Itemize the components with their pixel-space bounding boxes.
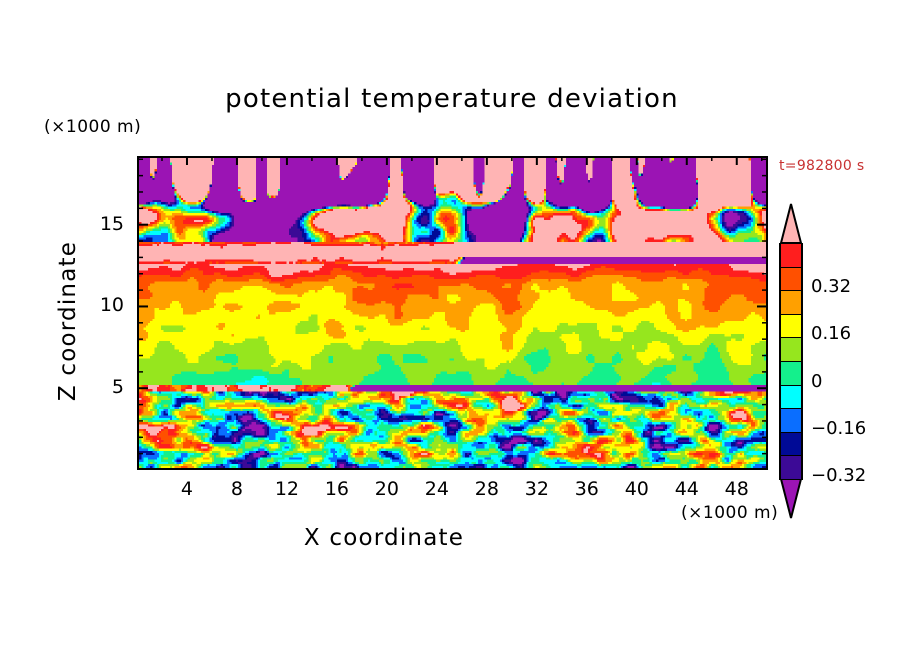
colorbar-band bbox=[779, 267, 803, 292]
x-axis-title: X coordinate bbox=[0, 525, 768, 551]
colorbar-band bbox=[779, 385, 803, 410]
colorbar-tick-label: −0.32 bbox=[811, 465, 866, 486]
y-axis-unit-label: (×1000 m) bbox=[44, 117, 141, 137]
colorbar-tick-label: 0.32 bbox=[811, 276, 851, 297]
contour-plot-area bbox=[137, 156, 768, 470]
colorbar-band bbox=[779, 290, 803, 315]
colorbar-band bbox=[779, 455, 803, 480]
colorbar-tick-label: −0.16 bbox=[811, 418, 866, 439]
axis-ticks bbox=[137, 156, 768, 470]
colorbar-band bbox=[779, 314, 803, 339]
figure-canvas: potential temperature deviation (×1000 m… bbox=[0, 0, 904, 654]
colorbar-band bbox=[779, 361, 803, 386]
colorbar-under-arrow bbox=[779, 479, 803, 519]
colorbar-over-arrow bbox=[779, 203, 803, 243]
y-tick-label: 15 bbox=[84, 213, 124, 235]
y-tick-label: 10 bbox=[84, 294, 124, 316]
colorbar-band bbox=[779, 243, 803, 268]
time-annotation: t=982800 s bbox=[779, 158, 864, 174]
page-title: potential temperature deviation bbox=[0, 84, 904, 114]
colorbar-band bbox=[779, 337, 803, 362]
x-axis-unit-label: (×1000 m) bbox=[681, 503, 778, 523]
colorbar-band bbox=[779, 408, 803, 433]
colorbar-tick-label: 0.16 bbox=[811, 323, 851, 344]
x-tick-label: 48 bbox=[707, 478, 767, 500]
colorbar bbox=[779, 203, 803, 519]
colorbar-band bbox=[779, 432, 803, 457]
y-axis-title: Z coordinate bbox=[55, 191, 81, 451]
colorbar-tick-label: 0 bbox=[811, 371, 822, 392]
y-tick-label: 5 bbox=[84, 376, 124, 398]
